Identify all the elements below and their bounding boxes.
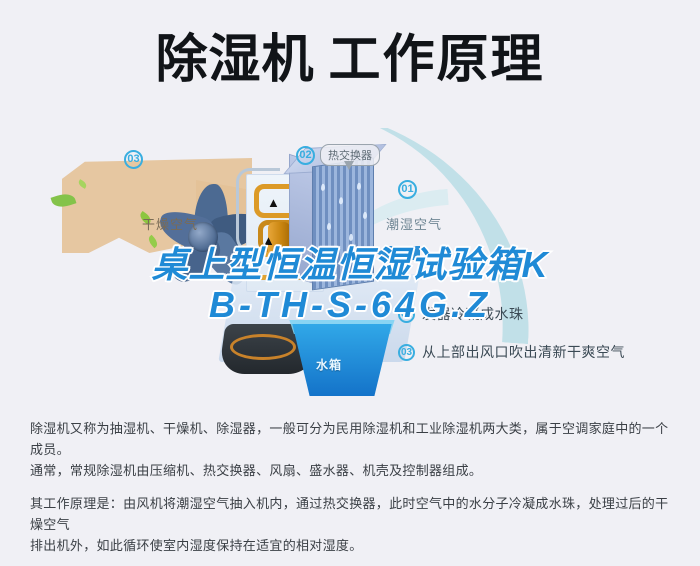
legend-text-03: 从上部出风口吹出清新干爽空气 (422, 342, 625, 362)
legend-item: 03 从上部出风口吹出清新干爽空气 (398, 342, 698, 362)
body-paragraph-4: 排出机外，如此循环使室内湿度保持在适宜的相对湿度。 (30, 535, 675, 556)
diagram-badge-02: 02 (296, 146, 315, 165)
body-paragraph-1: 除湿机又称为抽湿机、干燥机、除湿器，一般可分为民用除湿机和工业除湿机两大类，属于… (30, 418, 675, 460)
callout-tail-icon (344, 161, 354, 170)
flow-arrow-up-icon: ▲ (262, 234, 275, 247)
moist-air-label: 潮湿空气 (386, 214, 442, 233)
flow-arrow-up-icon: ▲ (267, 196, 280, 209)
legend-text-02: 发器冷凝成水珠 (422, 304, 524, 324)
body-copy: 除湿机又称为抽湿机、干燥机、除湿器，一般可分为民用除湿机和工业除湿机两大类，属于… (30, 418, 675, 556)
unit-base-ring-icon (230, 334, 296, 360)
page-title-part2: 工作原理 (329, 30, 545, 90)
body-paragraph-3: 其工作原理是：由风机将潮湿空气抽入机内，通过热交换器，此时空气中的水分子冷凝成水… (30, 493, 675, 535)
dry-air-label: 干燥空气 (142, 214, 198, 233)
page-title: 除湿机工作原理 (0, 30, 700, 90)
legend-badge-03: 03 (398, 344, 415, 361)
page-root: 除湿机工作原理 ▲ ▲ ▼ (0, 0, 700, 566)
water-tank-label: 水箱 (316, 356, 342, 373)
body-paragraph-2: 通常，常规除湿机由压缩机、热交换器、风扇、盛水器、机壳及控制器组成。 (30, 460, 675, 481)
diagram-badge-03: 03 (124, 150, 143, 169)
heat-exchanger-fins-icon (312, 158, 374, 291)
diagram-badge-01: 01 (398, 180, 417, 199)
page-title-part1: 除湿机 (155, 30, 314, 90)
diagram-legend: 02 发器冷凝成水珠 03 从上部出风口吹出清新干爽空气 (398, 304, 698, 380)
legend-badge-02: 02 (398, 306, 415, 323)
legend-item: 02 发器冷凝成水珠 (398, 304, 698, 324)
dehumidifier-diagram: ▲ ▲ ▼ 水箱 03 02 01 热交换器 干燥空气 潮湿空气 (0, 128, 700, 400)
